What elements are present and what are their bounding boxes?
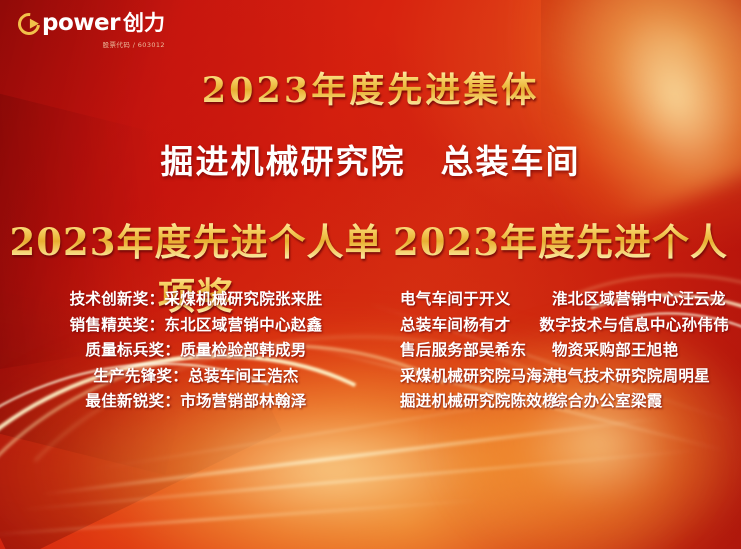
list-item: 质量标兵奖：质量检验部韩成男: [0, 337, 392, 363]
light-streak-decoration: [42, 417, 658, 495]
stock-code-label: 股票代码 / 603012: [18, 39, 165, 49]
winners-lists: 技术创新奖：采煤机械研究院张来胜 销售精英奖：东北区域营销中心赵鑫 质量标兵奖：…: [0, 286, 741, 414]
individual-name: 淮北区域营销中心汪云龙: [552, 286, 729, 312]
special-awards-list: 技术创新奖：采煤机械研究院张来胜 销售精英奖：东北区域营销中心赵鑫 质量标兵奖：…: [0, 286, 392, 414]
page-title: 2023年度先进集体: [0, 62, 741, 113]
individual-name: 售后服务部吴希东: [392, 337, 552, 363]
list-item: 技术创新奖：采煤机械研究院张来胜: [0, 286, 392, 312]
list-item: 生产先锋奖：总装车间王浩杰: [0, 363, 392, 389]
individual-name: 总装车间杨有才: [392, 312, 539, 338]
section-heading-individual-award-text: 2023年度先进个人: [393, 220, 728, 264]
list-item: 掘进机械研究院陈效栋 综合办公室梁霞: [392, 388, 729, 414]
logo-wordmark-cn: 创力: [123, 13, 165, 34]
power-arrow-logo-icon: [14, 8, 45, 39]
list-item: 电气车间于开义 淮北区域营销中心汪云龙: [392, 286, 729, 312]
individuals-list: 电气车间于开义 淮北区域营销中心汪云龙 总装车间杨有才 数字技术与信息中心孙伟伟…: [392, 286, 729, 414]
light-beam-decoration: [450, 0, 741, 244]
individual-name: 物资采购部王旭艳: [552, 337, 729, 363]
section-heading-individual-award: 2023年度先进个人: [392, 212, 741, 266]
logo-wordmark: power: [42, 12, 120, 35]
individuals-column: 电气车间于开义 淮北区域营销中心汪云龙 总装车间杨有才 数字技术与信息中心孙伟伟…: [392, 286, 741, 414]
collective-winners: 掘进机械研究院 总装车间: [0, 135, 741, 183]
individual-name: 综合办公室梁霞: [552, 388, 729, 414]
list-item: 销售精英奖：东北区域营销中心赵鑫: [0, 312, 392, 338]
special-awards-column: 技术创新奖：采煤机械研究院张来胜 销售精英奖：东北区域营销中心赵鑫 质量标兵奖：…: [0, 286, 392, 414]
light-streak-decoration: [0, 500, 479, 537]
list-item: 售后服务部吴希东 物资采购部王旭艳: [392, 337, 729, 363]
page-title-text: 2023年度先进集体: [202, 70, 539, 111]
individual-name: 掘进机械研究院陈效栋: [392, 388, 552, 414]
list-item: 最佳新锐奖：市场营销部林翰泽: [0, 388, 392, 414]
list-item: 采煤机械研究院马海涛 电气技术研究院周明星: [392, 363, 729, 389]
individual-name: 采煤机械研究院马海涛: [392, 363, 552, 389]
light-streak-decoration: [21, 450, 699, 511]
award-poster: power 创力 股票代码 / 603012 2023年度先进集体 掘进机械研究…: [0, 0, 741, 549]
individual-name: 电气技术研究院周明星: [552, 363, 729, 389]
company-logo: power 创力 股票代码 / 603012: [18, 12, 165, 49]
individual-name: 数字技术与信息中心孙伟伟: [539, 312, 729, 338]
list-item: 总装车间杨有才 数字技术与信息中心孙伟伟: [392, 312, 729, 338]
individual-name: 电气车间于开义: [392, 286, 552, 312]
logo-row: power 创力: [18, 12, 165, 35]
